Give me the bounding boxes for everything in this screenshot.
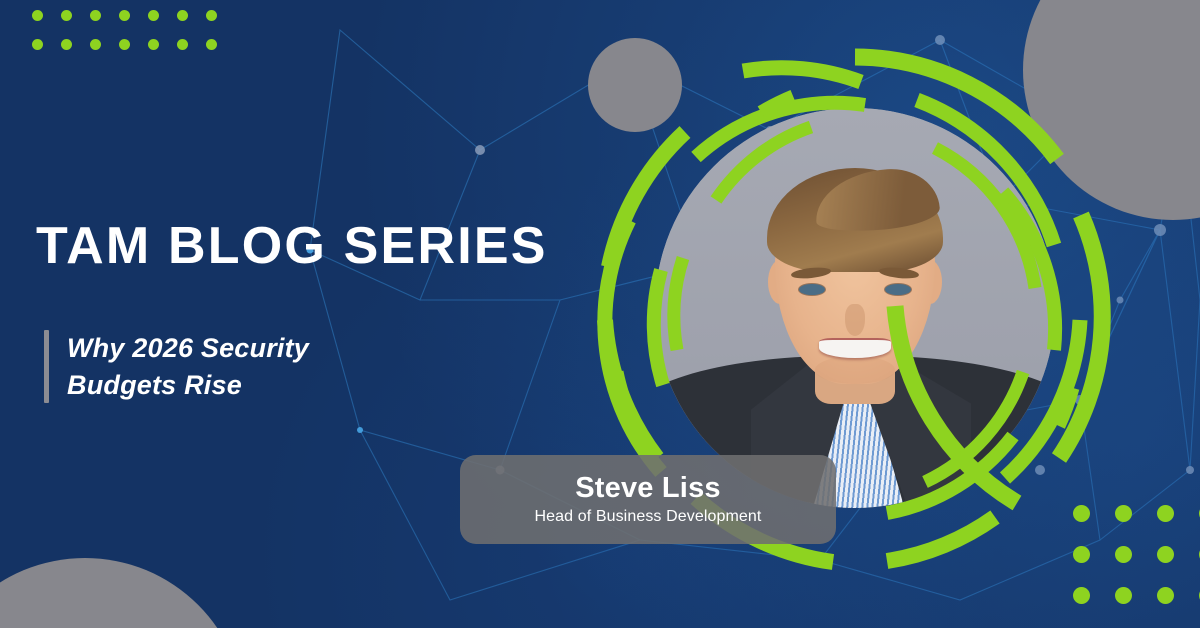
decor-dot (148, 10, 159, 21)
decor-dot (119, 39, 130, 50)
speaker-name-badge: Steve Liss Head of Business Development (460, 455, 836, 544)
decor-dot (177, 10, 188, 21)
decor-dot (119, 10, 130, 21)
social-share-card: TAM BLOG SERIES Why 2026 Security Budget… (0, 0, 1200, 628)
decor-dot (90, 39, 101, 50)
decor-dot (1115, 587, 1132, 604)
subtitle: Why 2026 Security Budgets Rise (67, 330, 397, 403)
speaker-name: Steve Liss (575, 473, 720, 505)
decor-dot (32, 10, 43, 21)
decor-dot (61, 39, 72, 50)
decor-dot (61, 10, 72, 21)
speaker-role: Head of Business Development (535, 508, 762, 526)
decor-dot (32, 39, 43, 50)
decor-dot (206, 39, 217, 50)
decor-dot (1157, 505, 1174, 522)
decor-dot (148, 39, 159, 50)
decor-dot (1115, 505, 1132, 522)
subtitle-block: Why 2026 Security Budgets Rise (44, 330, 397, 403)
page-title: TAM BLOG SERIES (36, 219, 548, 274)
subtitle-accent-rule (44, 330, 49, 403)
dot-grid-bottom-right (1073, 505, 1200, 628)
decor-dot (206, 10, 217, 21)
decor-dot (1073, 546, 1090, 563)
decor-dot (1073, 587, 1090, 604)
decor-dot (177, 39, 188, 50)
decor-dot (1157, 546, 1174, 563)
decor-dot (1115, 546, 1132, 563)
decor-dot (1073, 505, 1090, 522)
decor-dot (1157, 587, 1174, 604)
dot-grid-top-left (32, 10, 235, 68)
decor-dot (90, 10, 101, 21)
